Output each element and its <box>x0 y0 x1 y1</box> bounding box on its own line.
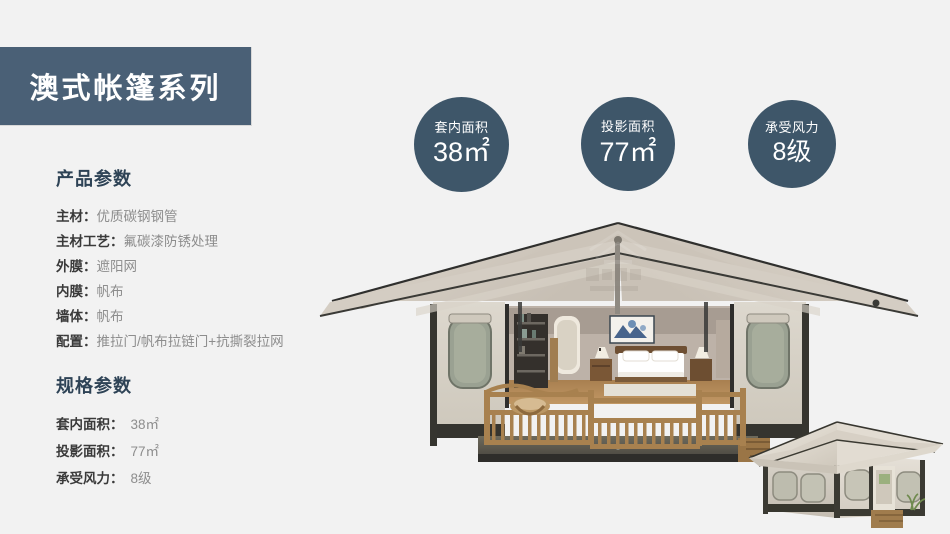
product-params-section: 产品参数 主材：优质碳钢钢管 主材工艺：氟碳漆防锈处理 外膜：遮阳网 内膜：帆布… <box>56 165 284 354</box>
param-label: 外膜： <box>56 259 97 274</box>
param-label: 主材工艺： <box>56 234 124 249</box>
stat-badge-figure: 38㎡ <box>433 137 490 168</box>
param-label: 内膜： <box>56 284 97 299</box>
param-label: 墙体： <box>56 309 97 324</box>
spec-value: 77㎡ <box>124 444 160 459</box>
param-value: 氟碳漆防锈处理 <box>124 234 219 249</box>
product-params-heading: 产品参数 <box>56 165 284 191</box>
param-value: 帆布 <box>97 284 124 299</box>
param-row: 外膜：遮阳网 <box>56 254 284 279</box>
tent-roof <box>320 223 918 316</box>
param-row: 主材工艺：氟碳漆防锈处理 <box>56 229 284 254</box>
tent-inset-image <box>745 414 950 534</box>
param-row: 内膜：帆布 <box>56 279 284 304</box>
spec-row: 承受风力：8级 <box>56 465 159 492</box>
param-value: 优质碳钢钢管 <box>97 209 178 224</box>
param-row: 墙体：帆布 <box>56 304 284 329</box>
spec-label: 套内面积： <box>56 417 124 432</box>
spec-row: 套内面积：38㎡ <box>56 411 159 438</box>
spec-value: 8级 <box>124 471 152 486</box>
stat-badge-caption: 承受风力 <box>765 121 819 135</box>
page-title: 澳式帐篷系列 <box>29 65 221 107</box>
spec-label: 投影面积： <box>56 444 124 459</box>
stat-badge-caption: 套内面积 <box>434 121 488 135</box>
param-value: 推拉门/帆布拉链门+抗撕裂拉网 <box>97 334 284 349</box>
slide-canvas: 澳式帐篷系列 产品参数 主材：优质碳钢钢管 主材工艺：氟碳漆防锈处理 外膜：遮阳… <box>0 0 950 534</box>
stat-badge-caption: 投影面积 <box>601 120 655 134</box>
param-value: 遮阳网 <box>97 259 138 274</box>
stat-badge-figure: 8级 <box>773 138 812 167</box>
param-row: 主材：优质碳钢钢管 <box>56 204 284 229</box>
stat-badge-projected-area: 投影面积 77㎡ <box>581 97 675 191</box>
param-value: 帆布 <box>97 309 124 324</box>
size-params-heading: 规格参数 <box>56 372 159 398</box>
param-row: 配置：推拉门/帆布拉链门+抗撕裂拉网 <box>56 329 284 354</box>
spec-row: 投影面积：77㎡ <box>56 438 159 465</box>
stat-badge-interior-area: 套内面积 38㎡ <box>414 97 509 192</box>
size-params-section: 规格参数 套内面积：38㎡ 投影面积：77㎡ 承受风力：8级 <box>56 372 159 492</box>
title-banner: 澳式帐篷系列 <box>0 47 252 126</box>
spec-value: 38㎡ <box>124 417 160 432</box>
stat-badge-figure: 77㎡ <box>599 137 656 168</box>
param-label: 配置： <box>56 334 97 349</box>
spec-label: 承受风力： <box>56 471 124 486</box>
stat-badge-wind-resistance: 承受风力 8级 <box>748 100 836 188</box>
param-label: 主材： <box>56 209 97 224</box>
patio-furniture <box>510 397 550 415</box>
